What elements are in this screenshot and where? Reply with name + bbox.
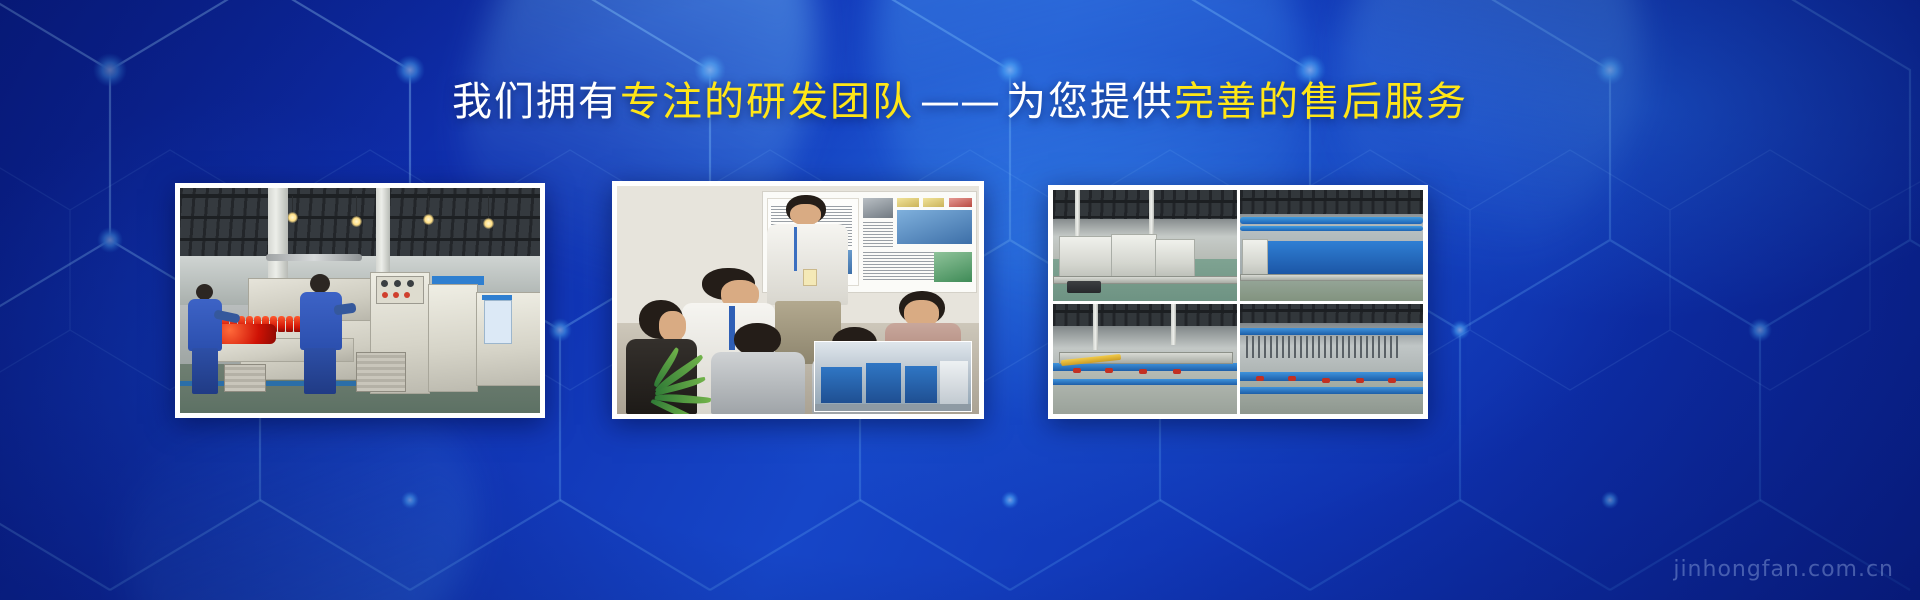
headline: 我们拥有专注的研发团队——为您提供完善的售后服务 <box>0 82 1920 122</box>
factory-worker <box>186 284 226 394</box>
ceiling-lamp <box>483 218 494 229</box>
banner-stage: 我们拥有专注的研发团队——为您提供完善的售后服务 <box>0 0 1920 600</box>
foreground-plant <box>621 341 708 414</box>
site-watermark: jinhongfan.com.cn <box>1673 557 1894 582</box>
headline-segment-3: 为您提供 <box>1006 79 1174 125</box>
collage-cell-hanging-line <box>1240 304 1424 415</box>
equipment-collage-photo[interactable] <box>1048 185 1428 419</box>
photo-frame-inner <box>180 188 540 413</box>
team-meeting-scene <box>617 186 979 414</box>
photo-frame-inner <box>617 186 979 414</box>
equipment-inset-photo <box>814 341 972 411</box>
production-line-photo[interactable] <box>175 183 545 418</box>
blue-pipe <box>1240 217 1424 224</box>
ceiling-lamp <box>351 216 362 227</box>
overhead-rail <box>1240 328 1424 335</box>
headline-segment-2: 专注的研发团队 <box>620 79 914 125</box>
team-meeting-photo[interactable] <box>612 181 984 419</box>
hanging-hooks <box>1246 336 1398 358</box>
storage-crate <box>356 352 406 392</box>
collage-cell-conveyor <box>1053 304 1237 415</box>
headline-dash: —— <box>914 79 1006 125</box>
factory-production-scene <box>180 188 540 413</box>
equipment-collage-grid <box>1053 190 1423 414</box>
headline-segment-4: 完善的售后服务 <box>1174 79 1468 125</box>
headline-segment-1: 我们拥有 <box>452 79 620 125</box>
collage-cell-blue-tunnel <box>1240 190 1424 301</box>
equipment-cart <box>1067 281 1101 293</box>
photo-frame-inner <box>1053 190 1423 414</box>
factory-worker <box>298 274 344 394</box>
ceiling-lamp <box>423 214 434 225</box>
blue-oven-tunnel <box>1248 241 1424 274</box>
seated-participant <box>711 323 805 414</box>
ceiling-lamp <box>287 212 298 223</box>
collage-cell-oven-hall <box>1053 190 1237 301</box>
